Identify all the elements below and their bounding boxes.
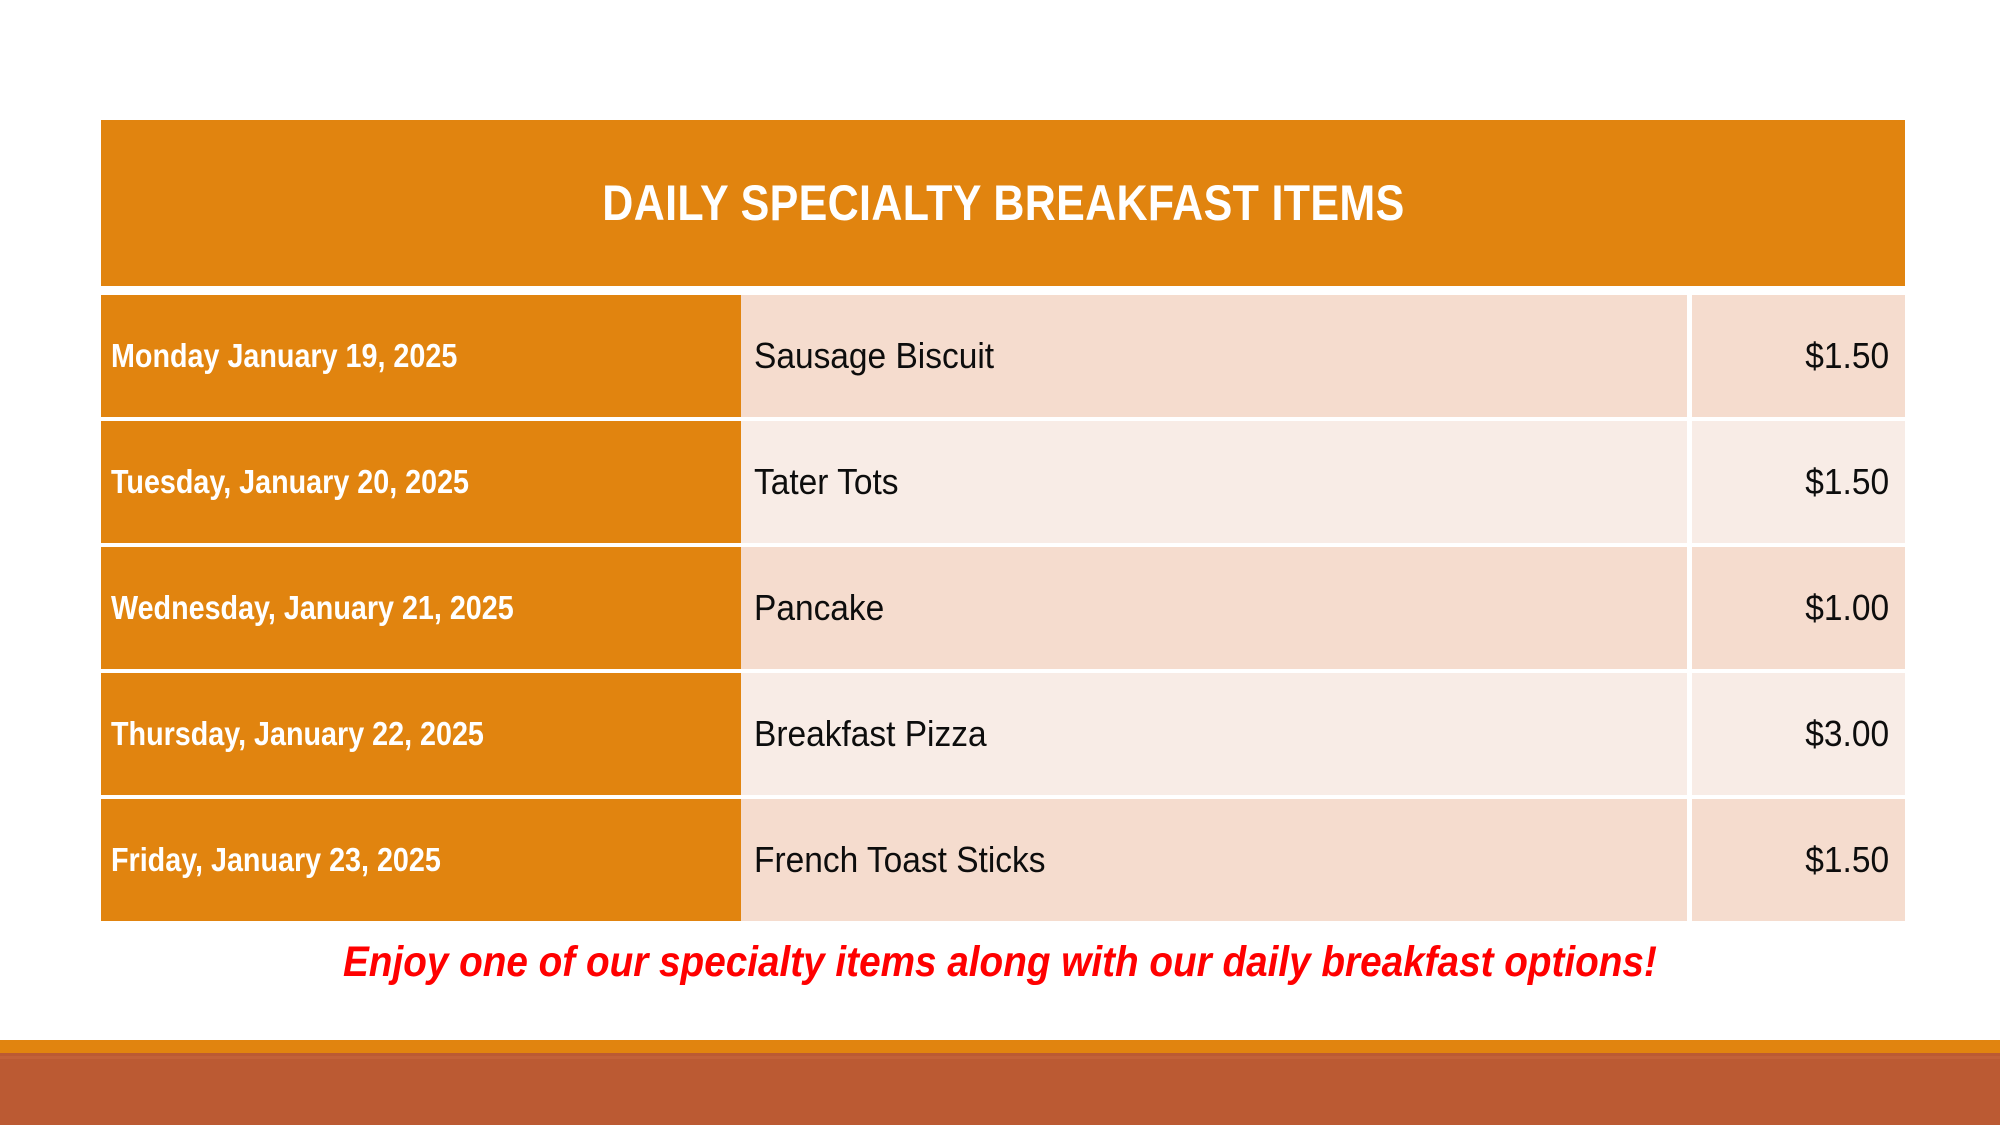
day-label: Friday, January 23, 2025 <box>111 841 441 879</box>
item-label: French Toast Sticks <box>754 839 1046 881</box>
price-label: $1.00 <box>1805 587 1889 629</box>
day-cell: Friday, January 23, 2025 <box>101 799 741 921</box>
price-label: $1.50 <box>1805 335 1889 377</box>
table-header: DAILY SPECIALTY BREAKFAST ITEMS <box>101 120 1905 286</box>
day-label: Tuesday, January 20, 2025 <box>111 463 469 501</box>
page-title: DAILY SPECIALTY BREAKFAST ITEMS <box>602 174 1404 232</box>
menu-rows: Monday January 19, 2025 Sausage Biscuit … <box>101 295 1905 921</box>
item-cell: French Toast Sticks <box>741 799 1687 921</box>
table-row: Monday January 19, 2025 Sausage Biscuit … <box>101 295 1905 417</box>
price-cell: $1.50 <box>1692 295 1905 417</box>
price-label: $1.50 <box>1805 461 1889 503</box>
price-label: $3.00 <box>1805 713 1889 755</box>
day-label: Wednesday, January 21, 2025 <box>111 589 514 627</box>
day-cell: Wednesday, January 21, 2025 <box>101 547 741 669</box>
day-cell: Tuesday, January 20, 2025 <box>101 421 741 543</box>
item-label: Tater Tots <box>754 461 899 503</box>
item-label: Sausage Biscuit <box>754 335 994 377</box>
menu-table: DAILY SPECIALTY BREAKFAST ITEMS Monday J… <box>101 120 1905 921</box>
day-label: Thursday, January 22, 2025 <box>111 715 484 753</box>
price-cell: $1.00 <box>1692 547 1905 669</box>
item-cell: Pancake <box>741 547 1687 669</box>
decorative-orange-band <box>0 1040 2000 1053</box>
decorative-terracotta-band <box>0 1053 2000 1125</box>
table-row: Thursday, January 22, 2025 Breakfast Piz… <box>101 673 1905 795</box>
item-cell: Tater Tots <box>741 421 1687 543</box>
slide-canvas: DAILY SPECIALTY BREAKFAST ITEMS Monday J… <box>0 0 2000 1125</box>
price-label: $1.50 <box>1805 839 1889 881</box>
item-cell: Breakfast Pizza <box>741 673 1687 795</box>
item-label: Pancake <box>754 587 884 629</box>
price-cell: $1.50 <box>1692 421 1905 543</box>
decorative-terracotta-highlight <box>0 1056 2000 1059</box>
promo-line: Enjoy one of our specialty items along w… <box>0 938 2000 987</box>
price-cell: $1.50 <box>1692 799 1905 921</box>
table-row: Friday, January 23, 2025 French Toast St… <box>101 799 1905 921</box>
item-label: Breakfast Pizza <box>754 713 987 755</box>
promo-text: Enjoy one of our specialty items along w… <box>343 938 1657 987</box>
price-cell: $3.00 <box>1692 673 1905 795</box>
table-row: Tuesday, January 20, 2025 Tater Tots $1.… <box>101 421 1905 543</box>
item-cell: Sausage Biscuit <box>741 295 1687 417</box>
day-cell: Monday January 19, 2025 <box>101 295 741 417</box>
day-cell: Thursday, January 22, 2025 <box>101 673 741 795</box>
table-row: Wednesday, January 21, 2025 Pancake $1.0… <box>101 547 1905 669</box>
day-label: Monday January 19, 2025 <box>111 337 457 375</box>
